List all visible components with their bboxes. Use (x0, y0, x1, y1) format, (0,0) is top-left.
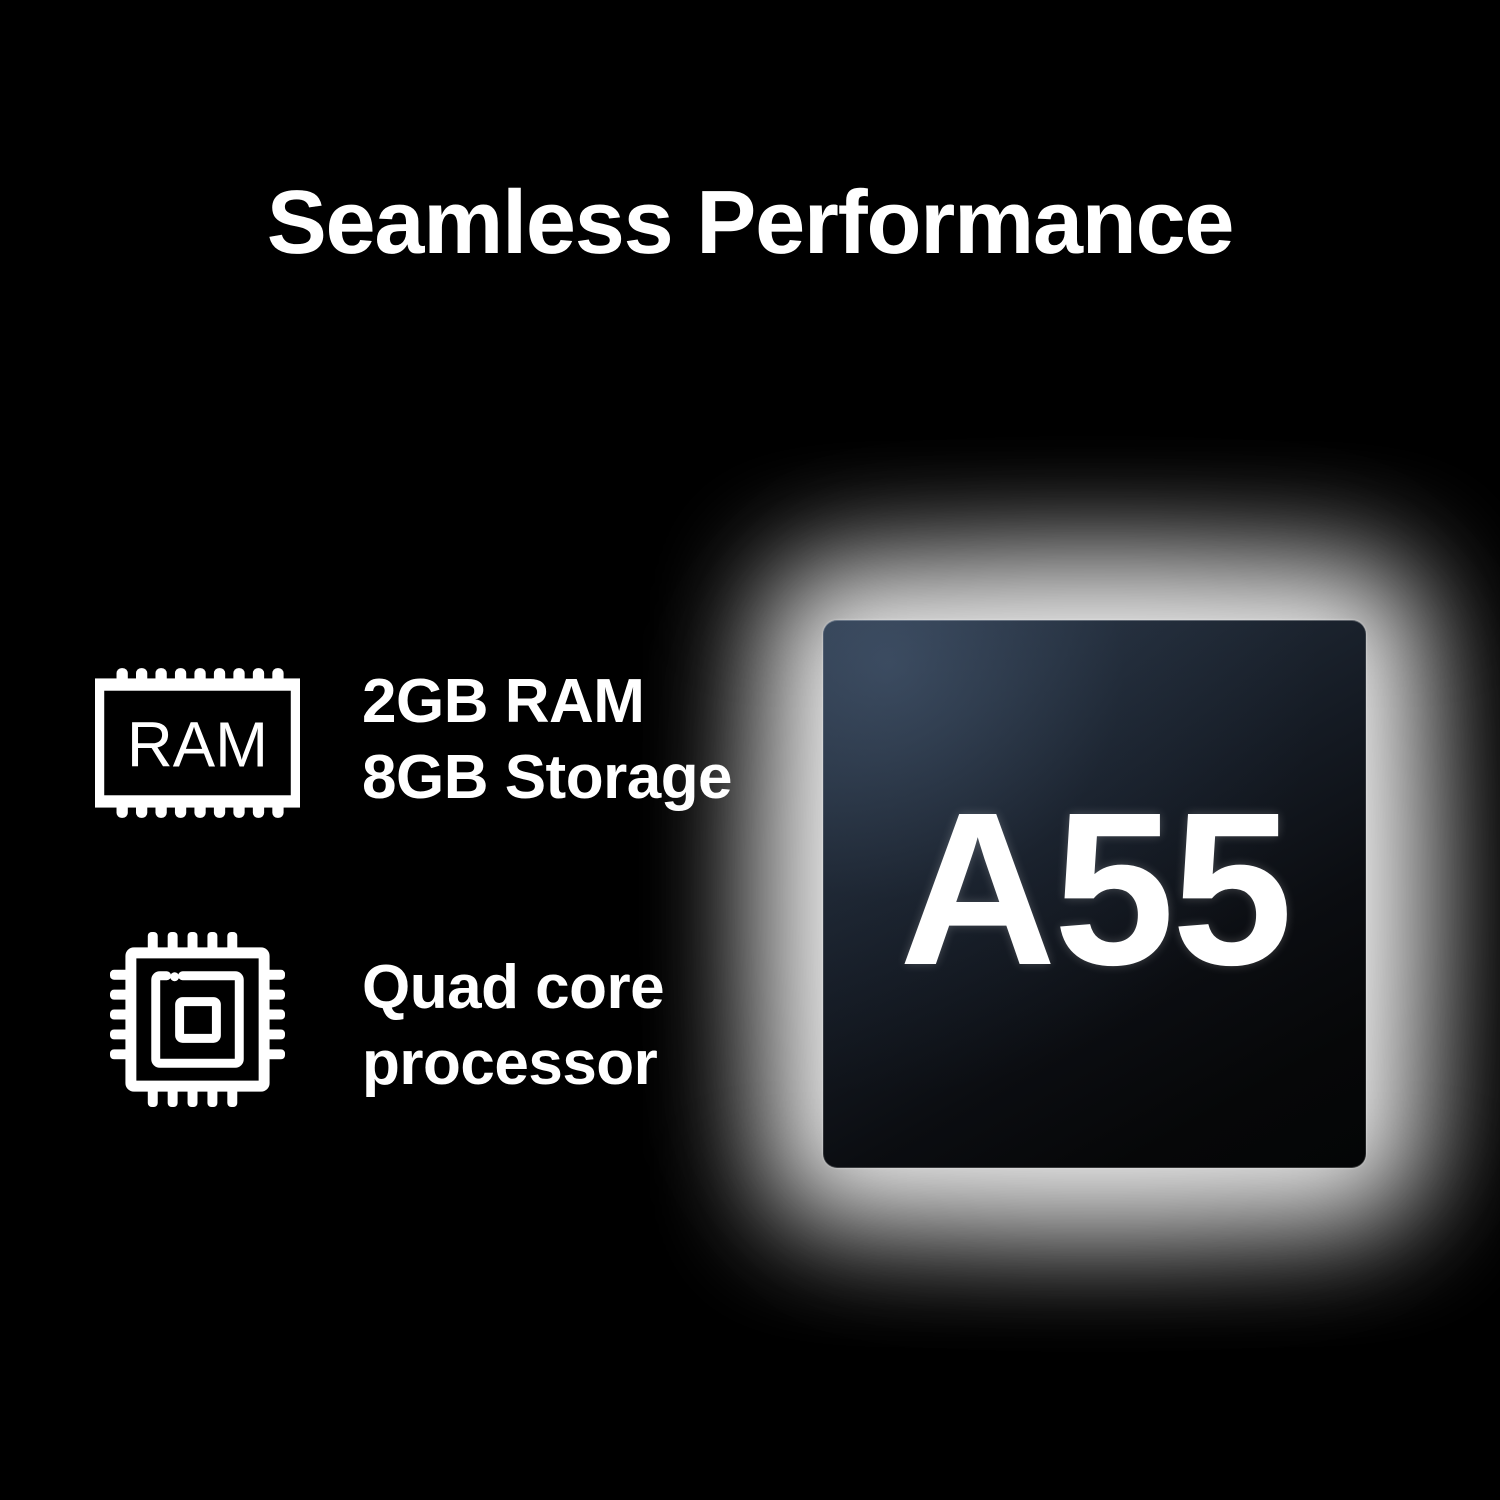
chip-label: A55 (823, 620, 1366, 1168)
feature-item-processor: Quad core processor (95, 930, 664, 1107)
cpu-chip-icon (95, 932, 300, 1107)
feature-label-processor: Quad core processor (362, 930, 664, 1101)
page-title: Seamless Performance (0, 176, 1500, 271)
ram-icon-label: RAM (127, 710, 268, 781)
feature-item-memory: RAM 2GB RAM 8GB Storage (95, 660, 732, 818)
product-feature-banner: Seamless Performance (0, 0, 1500, 1500)
ram-module-icon: RAM (95, 668, 300, 818)
feature-label-memory: 2GB RAM 8GB Storage (362, 660, 732, 815)
chip-body: A55 (823, 620, 1366, 1168)
chip-visual: A55 (823, 620, 1366, 1168)
